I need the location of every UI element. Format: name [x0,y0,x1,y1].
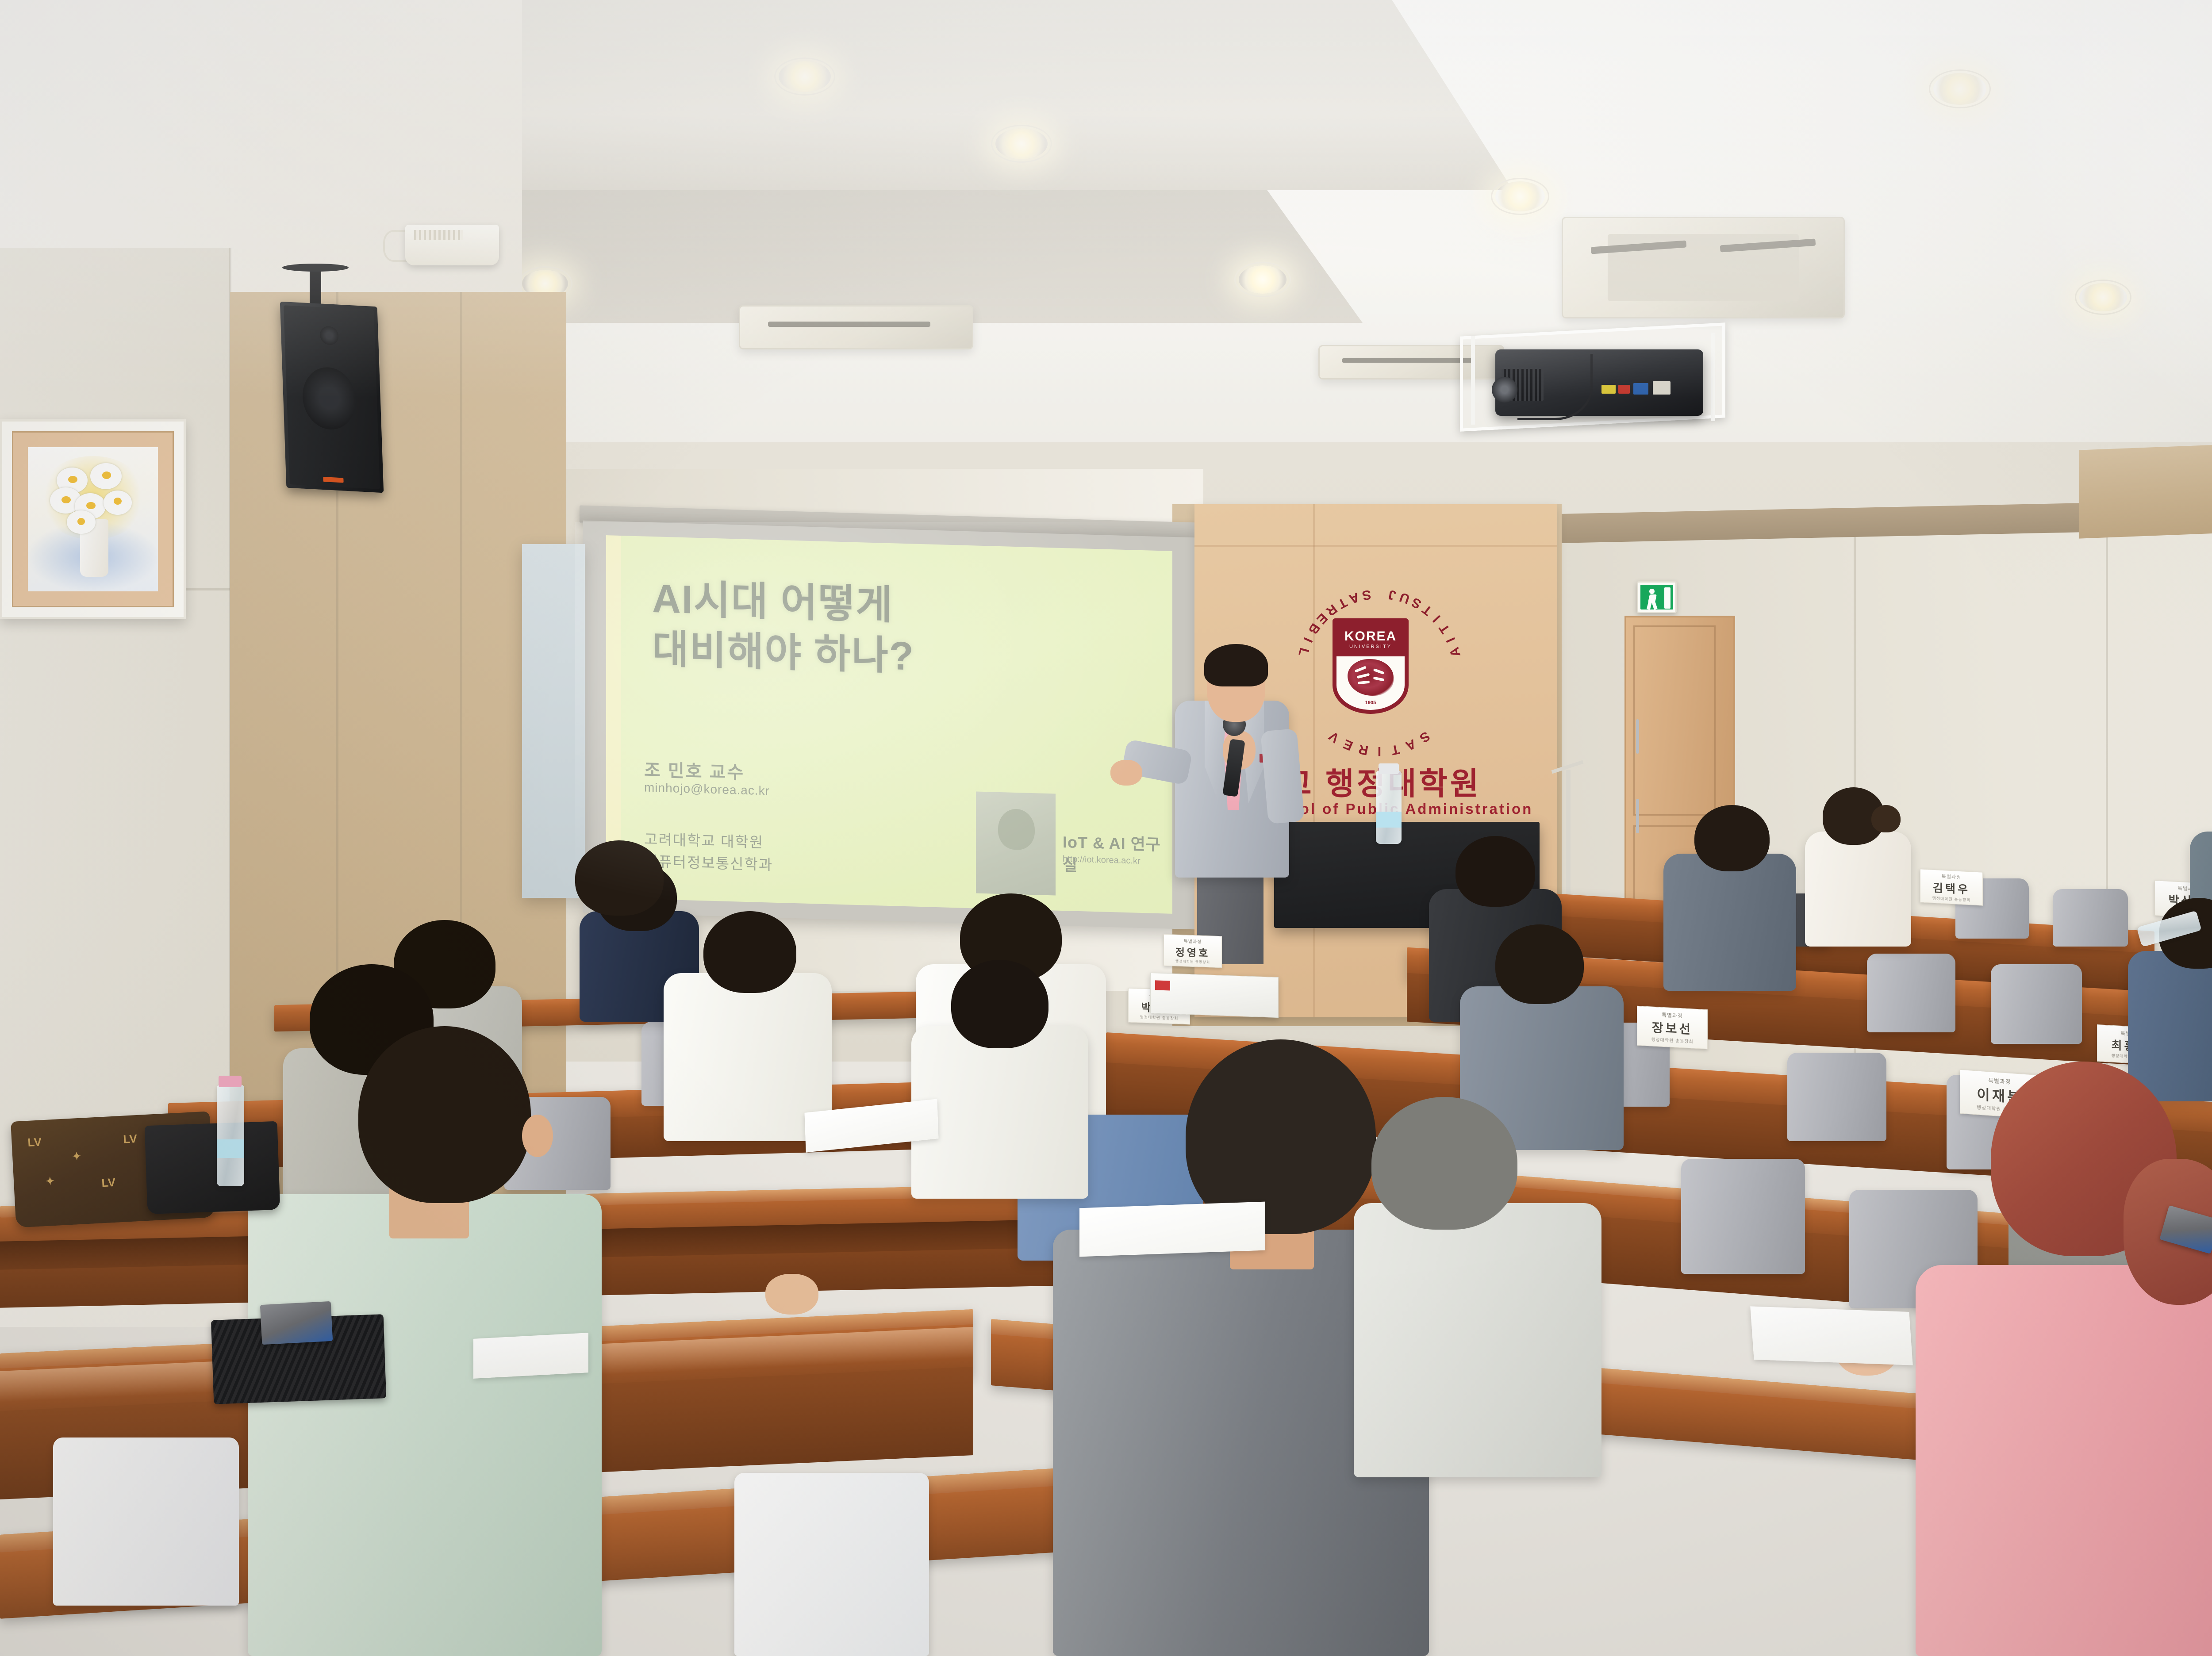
handbag-monogram: ✦ [45,1175,55,1188]
tiger-stripe [1357,681,1370,685]
ac-vane [1342,358,1474,363]
downlight-ring [1234,262,1291,297]
crest-motto-letter: U [1398,589,1411,606]
bottle-cap [219,1076,242,1087]
slide-presenter-email: minhojo@korea.ac.kr [644,781,770,798]
attendee-torso [911,1026,1088,1199]
chair-foreground[interactable] [734,1473,929,1656]
crest-shield-banner: KOREA UNIVERSITY [1336,621,1406,656]
placard-org: 행정대학원 총동창회 [1175,959,1210,965]
handbag-monogram: LV [123,1132,138,1146]
tiger-stripe [1356,673,1370,679]
handbag-monogram: ✦ [72,1150,82,1163]
crest-motto-letter: A [1447,645,1464,659]
water-bottle [217,1085,244,1186]
downlight-ring [1491,178,1549,215]
backdrop-seam [1194,545,1557,547]
chair[interactable] [2053,889,2128,947]
artwork-daisy-center [61,496,71,503]
slide-profile-photo [976,792,1056,896]
projector-port [1618,385,1630,394]
attendee-head [358,1026,531,1203]
speaker-bracket [310,269,321,305]
crest-motto-letter: S [1409,594,1424,611]
crest-korea-label: KOREA [1344,629,1397,644]
crest-motto-letter: A [1403,736,1418,754]
bottle-label [1376,812,1402,828]
crest-motto-letter: T [1390,741,1401,758]
attendee-head [951,960,1048,1048]
crest-motto-letter: T [1436,621,1453,636]
tiger-stripe [1373,668,1385,675]
projector-port [1633,383,1648,395]
artwork-daisy-center [86,502,96,509]
attendee-torso [1663,854,1796,991]
slide-profile-face [998,809,1035,850]
chair[interactable] [1787,1053,1886,1141]
black-leather-bag [145,1121,280,1214]
handout-papers [1079,1202,1265,1257]
emergency-light-icon [405,225,499,265]
speaker-logo [323,477,343,483]
downlight-ring [991,125,1052,163]
speaker-mount-plate [282,264,349,272]
crest-motto-letter: I [1300,635,1315,645]
attendee-torso [1354,1203,1601,1477]
attendee-head [1495,924,1584,1004]
attendee-torso [2128,951,2212,1101]
attendee-head [703,911,796,993]
crest-motto-letter: I [1430,612,1444,625]
water-bottle [1376,770,1402,844]
name-placard: 특별과정 장보선 행정대학원 총동창회 [1637,1006,1708,1049]
chair[interactable] [1681,1159,1805,1274]
door-handle-icon[interactable] [1636,719,1639,754]
projector-cable [1517,354,1593,420]
bottle-cap [1379,763,1399,774]
binder-spine [1155,980,1170,990]
tiger-stripe [1355,666,1367,673]
crest-motto-letter: A [1347,589,1361,606]
placard-name: 정영호 [1175,944,1210,960]
name-placard: 특별과정 김택우 행정대학원 총동창회 [1920,869,1983,905]
side-wall-panel [522,544,585,898]
projector-lens-icon [1492,377,1517,402]
projector-lift-rod [1471,336,1475,425]
slide-lab-url: http://iot.korea.ac.kr [1063,854,1141,866]
smartphone [260,1301,333,1345]
crest-motto-letter: I [1378,744,1381,759]
attendee-torso [1805,832,1911,947]
chair[interactable] [1991,964,2082,1044]
attendee-head [1371,1097,1517,1230]
exit-door-glyph [1664,587,1671,609]
handout-papers [1750,1306,1912,1365]
name-placard: 특별과정 정영호 행정대학원 총동창회 [1164,934,1222,968]
attendee-ear [522,1115,553,1157]
placard-org: 행정대학원 총동창회 [1140,1014,1178,1021]
downlight-ring [1929,69,1991,108]
door-handle-icon[interactable] [1636,799,1639,833]
framed-artwork-left [0,419,186,619]
artwork-daisy-center [114,498,122,505]
presenter-hair [1204,644,1268,686]
crest-motto-letter: S [1417,728,1432,745]
handbag-monogram: LV [27,1135,42,1150]
crest-motto-letter: V [1326,728,1342,745]
white-binder [1150,973,1279,1018]
attendee-torso [248,1194,602,1656]
ac-cassette-icon [739,305,973,349]
wall-speaker-left [280,302,384,493]
attendee-head [1455,836,1535,907]
exit-sign-icon [1637,581,1677,613]
door-panel [1633,625,1716,816]
projector-lift-rod [1711,333,1715,421]
placard-role: 특별과정 [1184,937,1202,944]
crest-motto-letter: S [1361,586,1372,603]
exit-sign-panel [1640,585,1673,609]
placard-name: 김택우 [1933,879,1970,897]
projector-port [1653,381,1671,395]
ac-cassette-icon [1562,217,1845,318]
slide-lab-name: IoT & AI 연구실 [1063,829,1172,878]
artwork-daisy-center [102,471,111,479]
placard-name: 장보선 [1652,1018,1693,1038]
attendee-torso [1916,1265,2212,1656]
crest-university-label: UNIVERSITY [1349,644,1392,649]
exit-running-man-glyph [1647,601,1652,609]
slide-title-line1: AI시대 어떻게 [652,575,893,631]
crest-motto-letter: T [1420,602,1435,618]
handbag-monogram: LV [101,1176,116,1190]
projector-port [1601,385,1616,394]
slide-title-line2: 대비해야 하나? [652,625,914,682]
slide-affiliation-line1: 고려대학교 대학원 [644,828,773,854]
crest-motto-letter: T [1335,594,1349,612]
artwork-canvas-daisies [28,447,158,591]
projection-screen: AI시대 어떻게 대비해야 하나? 조 민호 교수 minhojo@korea.… [583,521,1194,930]
ac-vane [768,322,930,327]
slide-surface: AI시대 어떻게 대비해야 하나? 조 민호 교수 minhojo@korea.… [606,535,1172,914]
attendee-head [1694,805,1770,871]
crest-motto-letter: R [1357,741,1370,758]
handout-papers [473,1333,588,1379]
slide-presenter-name: 조 민호 교수 [644,756,745,784]
microphone-stand [1566,770,1571,916]
emergency-light-grille [414,230,463,240]
crest-motto-letter: L [1295,646,1312,658]
slide-affiliation: 고려대학교 대학원 컴퓨터정보통신학과 [644,828,773,876]
crest-tiger-icon [1348,659,1394,696]
presenter-left-hand [1110,760,1142,786]
downlight-ring [2075,280,2131,315]
chair[interactable] [1867,954,1955,1032]
crest-year: 1905 [1336,700,1405,705]
crest-motto-letter: I [1444,635,1459,645]
crest-motto-letter: E [1341,736,1356,753]
attendee-hair-bun [1871,805,1901,832]
tiger-stripe [1373,676,1385,681]
lecture-hall-photo: AI시대 어떻게 대비해야 하나? 조 민호 교수 minhojo@korea.… [0,0,2212,1656]
exit-running-man-glyph [1649,589,1655,594]
chair-foreground[interactable] [53,1437,239,1606]
attendee-hand [765,1274,818,1315]
downlight-ring [774,57,835,96]
upper-wood-band [2079,434,2212,538]
crest-shield: KOREA UNIVERSITY 1905 [1333,618,1409,714]
exit-running-man-glyph [1651,601,1657,609]
bottle-label [217,1139,244,1158]
attendee-head [575,840,664,916]
crest-motto-letter: J [1387,586,1397,602]
